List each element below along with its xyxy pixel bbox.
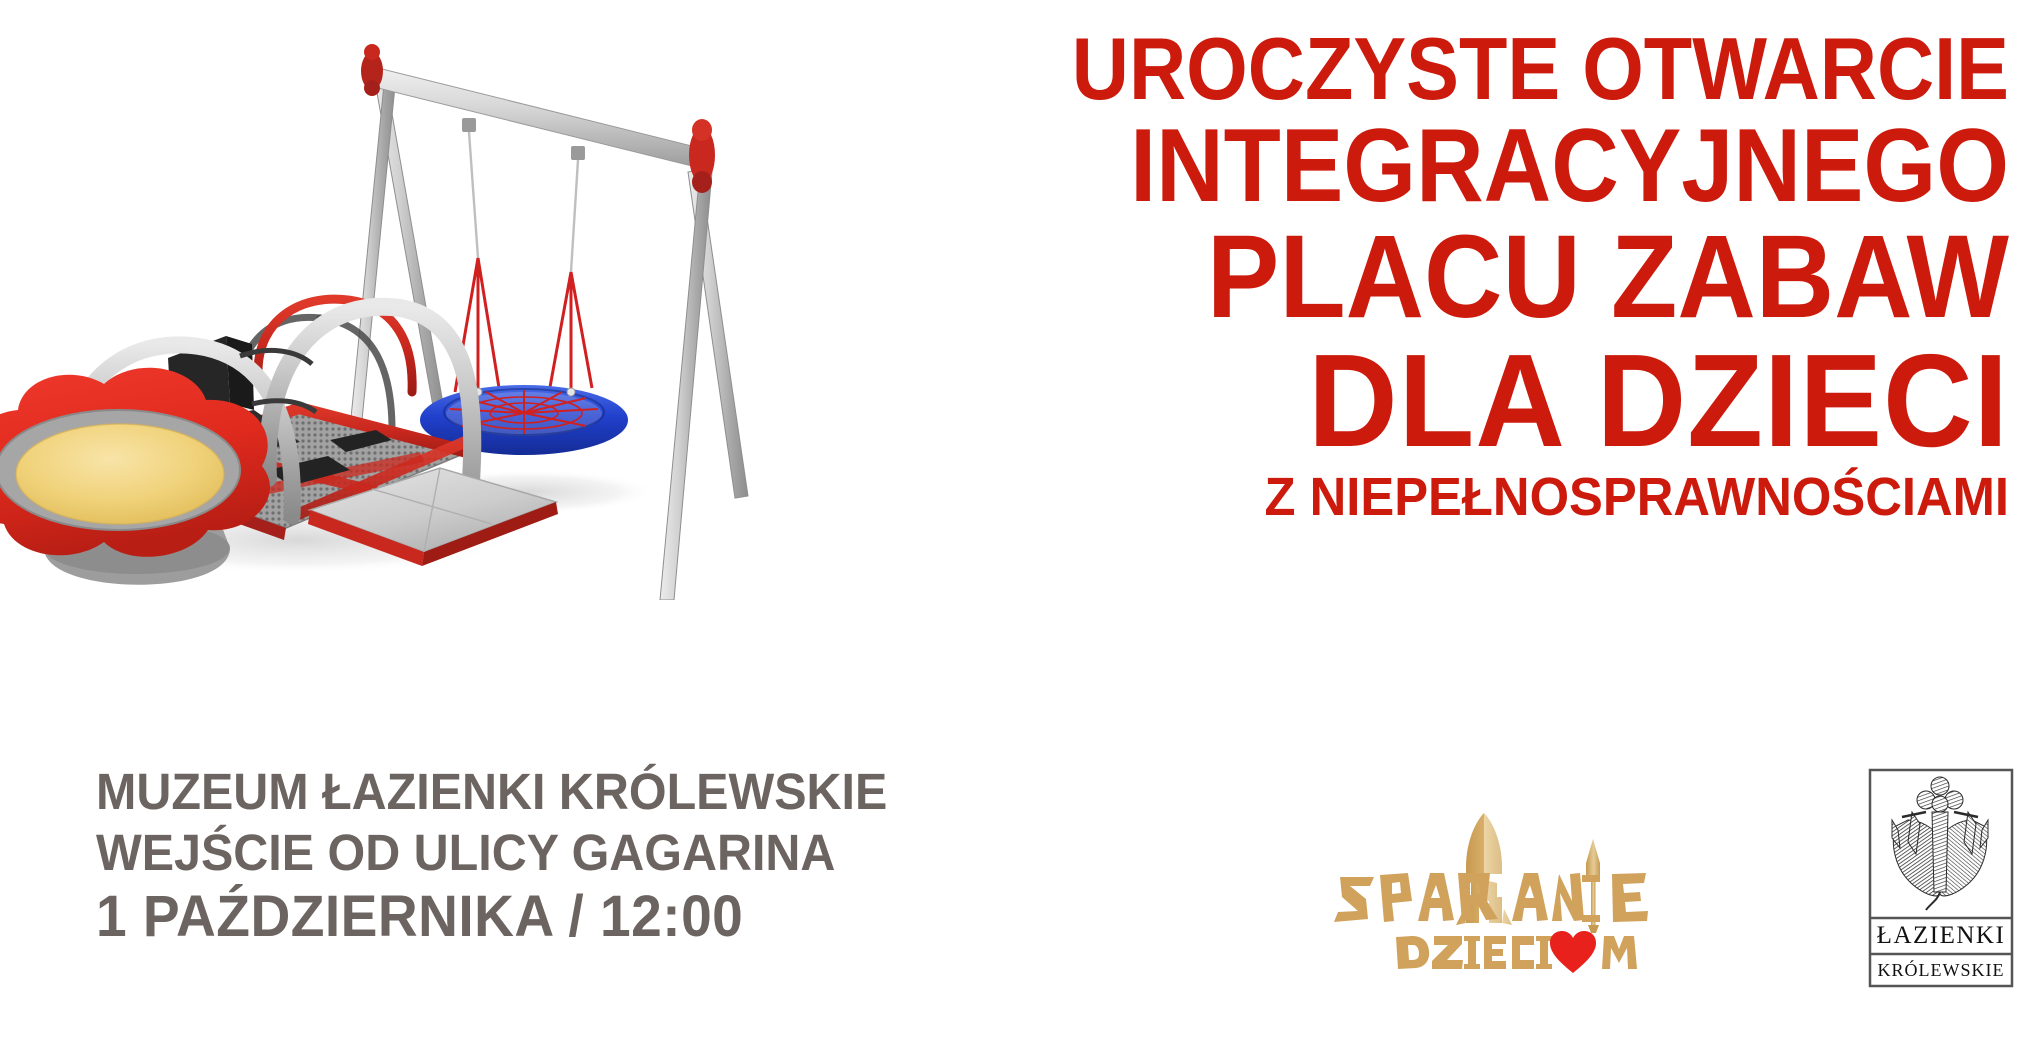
headline-line-4: DLA DZIECI: [919, 336, 2009, 465]
spartanie-dzieciom-logo: [1330, 805, 1660, 975]
venue-date-time: 1 PAŹDZIERNIKA / 12:00: [96, 887, 887, 947]
playground-illustration: [0, 0, 800, 600]
headline-block: UROCZYSTE OTWARCIE INTEGRACYJNEGO PLACU …: [849, 26, 2009, 524]
swing-cap-right: [689, 119, 715, 193]
heart-icon: [1550, 931, 1596, 973]
poster-canvas: UROCZYSTE OTWARCIE INTEGRACYJNEGO PLACU …: [0, 0, 2031, 1063]
lazienki-line-1: ŁAZIENKI: [1877, 922, 2006, 949]
headline-line-2: INTEGRACYJNEGO: [965, 116, 2009, 218]
venue-place: MUZEUM ŁAZIENKI KRÓLEWSKIE: [96, 765, 887, 818]
nest-ropes: [455, 258, 592, 398]
swing-cap-left: [361, 44, 383, 96]
swing-hanger-b: [571, 146, 585, 160]
venue-block: MUZEUM ŁAZIENKI KRÓLEWSKIE WEJŚCIE OD UL…: [96, 765, 929, 947]
spartanie-tagline: [1396, 936, 1552, 969]
spartanie-tagline-m: [1602, 936, 1637, 969]
lazienki-krolewskie-logo: ŁAZIENKI KRÓLEWSKIE: [1868, 768, 2014, 988]
venue-entrance: WEJŚCIE OD ULICY GAGARINA: [96, 826, 887, 879]
headline-line-1: UROCZYSTE OTWARCIE: [965, 26, 2009, 112]
headline-line-5: Z NIEPEŁNOSPRAWNOŚCIAMI: [919, 471, 2009, 524]
headline-line-3: PLACU ZABAW: [942, 220, 2009, 336]
swing-hanger-a: [462, 118, 476, 132]
nest-swing: [420, 132, 628, 455]
lazienki-line-2: KRÓLEWSKIE: [1878, 959, 2005, 980]
spartanie-wordmark-right: [1512, 873, 1648, 922]
